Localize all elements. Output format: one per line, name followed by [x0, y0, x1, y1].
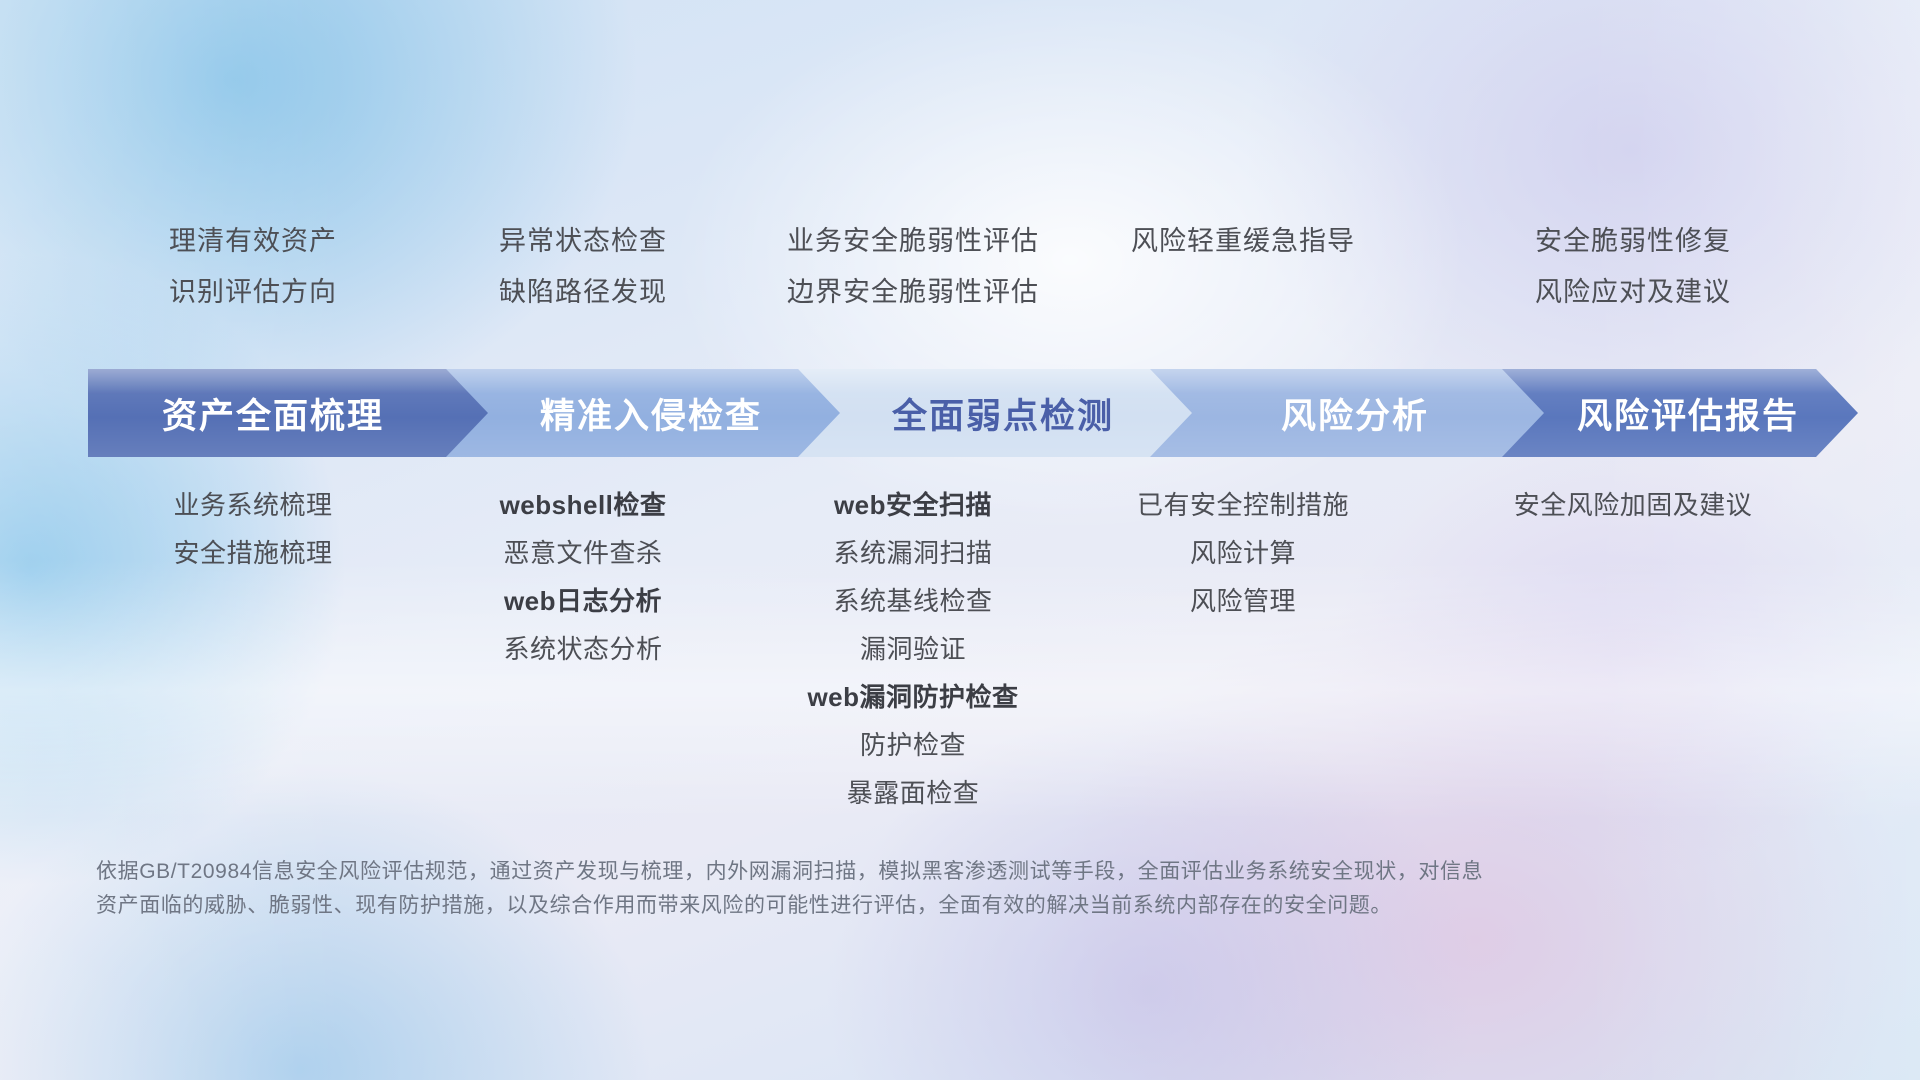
chevron-intrusion-check[interactable]: 精准入侵检查 — [440, 369, 840, 457]
detail-item: 暴露面检查 — [847, 780, 980, 806]
top-note: 业务安全脆弱性评估 — [787, 228, 1039, 255]
top-notes-col-asset-inventory: 理清有效资产识别评估方向 — [88, 228, 418, 330]
top-note: 理清有效资产 — [169, 228, 337, 255]
items-col-weakness-detection: web安全扫描系统漏洞扫描系统基线检查漏洞验证web漏洞防护检查防护检查暴露面检… — [748, 492, 1078, 828]
footer-line-2: 资产面临的威胁、脆弱性、现有防护措施，以及综合作用而带来风险的可能性进行评估，全… — [96, 889, 1586, 923]
items-col-asset-inventory: 业务系统梳理安全措施梳理 — [88, 492, 418, 588]
top-notes-col-risk-analysis: 风险轻重缓急指导 — [1078, 228, 1408, 279]
top-note: 识别评估方向 — [169, 279, 337, 306]
detail-item: web安全扫描 — [834, 492, 992, 518]
detail-item: 已有安全控制措施 — [1137, 492, 1349, 518]
chevron-label: 风险分析 — [1144, 388, 1544, 439]
top-note: 风险应对及建议 — [1535, 279, 1731, 306]
detail-item: 安全风险加固及建议 — [1514, 492, 1753, 518]
chevron-label: 资产全面梳理 — [88, 388, 488, 439]
diagram-content: 理清有效资产识别评估方向异常状态检查缺陷路径发现业务安全脆弱性评估边界安全脆弱性… — [0, 0, 1920, 1080]
chevron-risk-report[interactable]: 风险评估报告 — [1496, 369, 1858, 457]
detail-item: 系统基线检查 — [833, 588, 992, 614]
top-note: 边界安全脆弱性评估 — [787, 279, 1039, 306]
detail-item: 防护检查 — [860, 732, 966, 758]
chevron-weakness-detection[interactable]: 全面弱点检测 — [792, 369, 1192, 457]
detail-item: 风险计算 — [1190, 540, 1296, 566]
detail-item: 系统漏洞扫描 — [833, 540, 992, 566]
top-note: 安全脆弱性修复 — [1535, 228, 1731, 255]
top-notes-col-risk-report: 安全脆弱性修复风险应对及建议 — [1408, 228, 1858, 330]
chevron-label: 风险评估报告 — [1496, 388, 1858, 439]
detail-item: 漏洞验证 — [860, 636, 966, 662]
detail-item: 系统状态分析 — [503, 636, 662, 662]
detail-item: web日志分析 — [504, 588, 662, 614]
process-chevron-band: 资产全面梳理精准入侵检查全面弱点检测风险分析风险评估报告 — [88, 369, 1858, 457]
items-col-risk-analysis: 已有安全控制措施风险计算风险管理 — [1078, 492, 1408, 636]
detail-item: 安全措施梳理 — [173, 540, 332, 566]
chevron-risk-analysis[interactable]: 风险分析 — [1144, 369, 1544, 457]
detail-item: 业务系统梳理 — [173, 492, 332, 518]
detail-item: webshell检查 — [500, 492, 667, 518]
items-col-intrusion-check: webshell检查恶意文件查杀web日志分析系统状态分析 — [418, 492, 748, 684]
items-col-risk-report: 安全风险加固及建议 — [1408, 492, 1858, 540]
top-note: 异常状态检查 — [499, 228, 667, 255]
detail-item: 恶意文件查杀 — [503, 540, 662, 566]
detail-item: web漏洞防护检查 — [807, 684, 1018, 710]
chevron-label: 全面弱点检测 — [792, 388, 1192, 439]
footer-description: 依据GB/T20984信息安全风险评估规范，通过资产发现与梳理，内外网漏洞扫描，… — [96, 855, 1586, 923]
chevron-asset-inventory[interactable]: 资产全面梳理 — [88, 369, 488, 457]
footer-line-1: 依据GB/T20984信息安全风险评估规范，通过资产发现与梳理，内外网漏洞扫描，… — [96, 855, 1586, 889]
top-note: 缺陷路径发现 — [499, 279, 667, 306]
chevron-label: 精准入侵检查 — [440, 388, 840, 439]
top-note: 风险轻重缓急指导 — [1131, 228, 1355, 255]
top-notes-col-weakness-detection: 业务安全脆弱性评估边界安全脆弱性评估 — [748, 228, 1078, 330]
detail-item: 风险管理 — [1190, 588, 1296, 614]
top-notes-col-intrusion-check: 异常状态检查缺陷路径发现 — [418, 228, 748, 330]
